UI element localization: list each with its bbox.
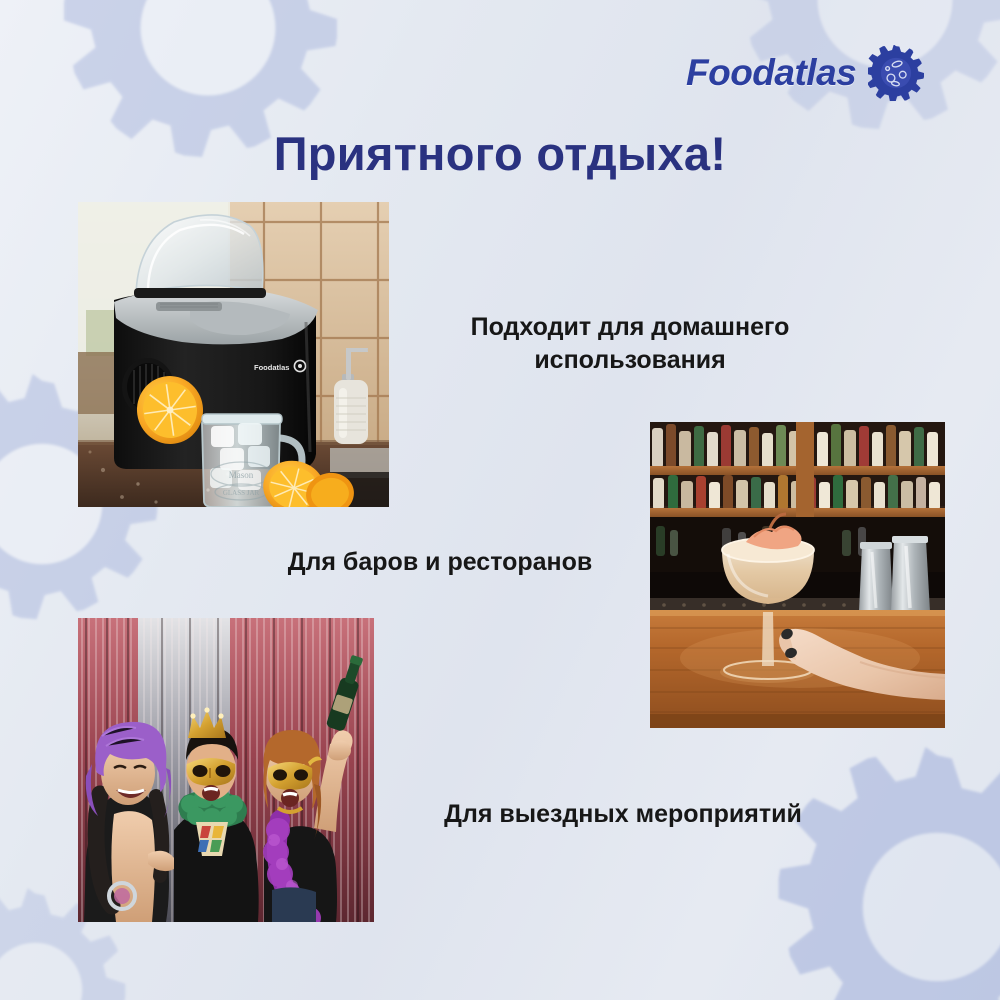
slide-canvas: Foodatlas Приятного отдыха! bbox=[0, 0, 1000, 1000]
brand-logo[interactable]: Foodatlas bbox=[686, 45, 924, 101]
svg-text:GLASS JAR: GLASS JAR bbox=[223, 489, 260, 497]
page-title: Приятного отдыха! bbox=[0, 126, 1000, 181]
gear-globe-icon bbox=[868, 45, 924, 101]
gear-watermark-bottom-right bbox=[772, 742, 1000, 1000]
svg-text:Foodatlas: Foodatlas bbox=[254, 363, 289, 372]
feature-caption-bar: Для баров и ресторанов bbox=[215, 546, 665, 579]
party-photo bbox=[78, 618, 374, 922]
bar-cocktail-photo bbox=[650, 422, 945, 728]
feature-caption-event: Для выездных мероприятий bbox=[398, 798, 848, 831]
svg-text:Mason: Mason bbox=[229, 470, 254, 480]
brand-name: Foodatlas bbox=[686, 52, 856, 94]
feature-caption-home: Подходит для домашнего использования bbox=[420, 311, 840, 376]
ice-maker-photo: Foodatlas bbox=[78, 202, 389, 507]
